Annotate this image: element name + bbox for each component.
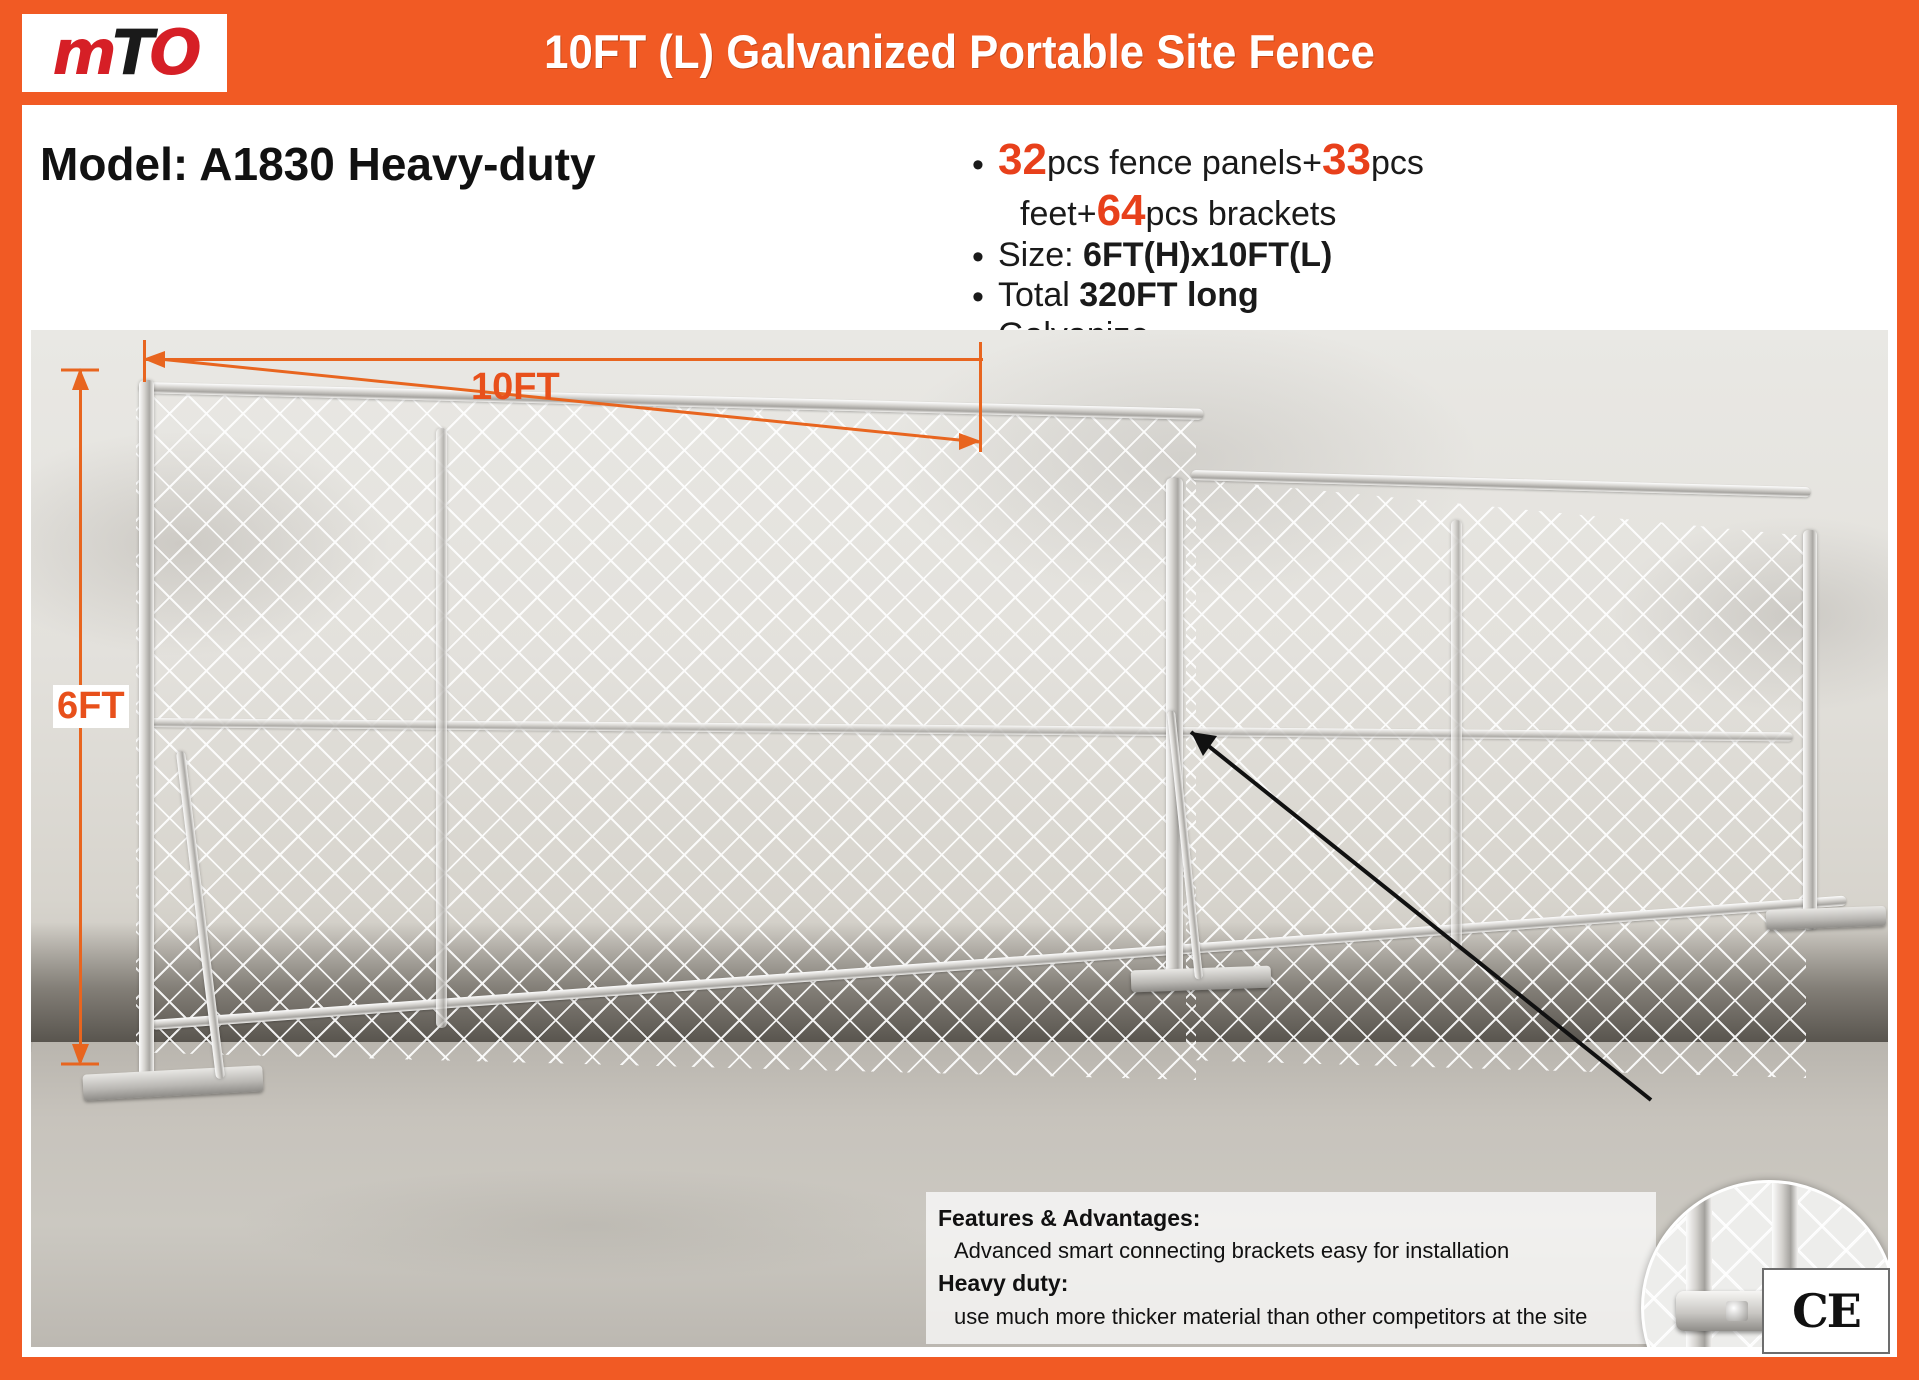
features-body: Advanced smart connecting brackets easy … [938, 1235, 1644, 1267]
heavy-duty-body: use much more thicker material than othe… [938, 1301, 1644, 1333]
total-suffix: long [1178, 276, 1259, 314]
spec-text-panels: pcs fence panels+ [1047, 144, 1322, 182]
spec-text-feet-unit: pcs [1371, 144, 1424, 182]
dim-height-label: 6FT [53, 685, 129, 728]
dim-width-line [143, 358, 983, 361]
spec-item-size: •Size: 6FT(H)x10FT(L) [972, 236, 1882, 274]
header-bar: mTO 10FT (L) Galvanized Portable Site Fe… [0, 0, 1919, 105]
dim-width-tick-right [979, 342, 982, 452]
size-label: Size: [998, 236, 1083, 274]
total-label: Total [998, 276, 1079, 314]
dim-width-tick-left [143, 340, 146, 382]
page-title: 10FT (L) Galvanized Portable Site Fence [67, 24, 1852, 79]
bullet-icon: • [972, 280, 998, 314]
fence-post-right [1803, 530, 1817, 930]
spec-text-brackets: pcs brackets [1146, 195, 1337, 233]
spec-item-quantities: •32pcs fence panels+33pcs [972, 135, 1882, 184]
qty-panels: 32 [998, 135, 1047, 184]
spec-text-feet: feet+ [1020, 195, 1097, 233]
qty-feet: 33 [1322, 135, 1371, 184]
product-photo: 10FT 6FT Features & Advantages: Advanced… [31, 330, 1888, 1347]
fence-mesh-panel-1 [136, 390, 1196, 1080]
product-spec-sheet: mTO 10FT (L) Galvanized Portable Site Fe… [0, 0, 1919, 1380]
bullet-icon: • [972, 240, 998, 274]
spec-list: •32pcs fence panels+33pcs feet+64pcs bra… [972, 135, 1882, 356]
heavy-duty-heading: Heavy duty: [938, 1267, 1644, 1300]
total-value: 320FT [1079, 276, 1177, 314]
spec-item-total-length: •Total 320FT long [972, 276, 1882, 314]
ce-certification-box: CE [1762, 1268, 1890, 1354]
fence-post-mid-right [1451, 520, 1462, 950]
model-label: Model: A1830 Heavy-duty [40, 137, 596, 191]
fence-post-left [139, 380, 154, 1085]
dim-width-label: 10FT [471, 366, 560, 409]
size-value: 6FT(H)x10FT(L) [1083, 236, 1332, 274]
spec-item-quantities-cont: feet+64pcs brackets [972, 186, 1882, 235]
bullet-icon: • [972, 148, 998, 182]
features-box: Features & Advantages: Advanced smart co… [926, 1192, 1656, 1344]
ce-mark-text: CE [1792, 1288, 1860, 1334]
features-heading: Features & Advantages: [938, 1202, 1644, 1235]
qty-brackets: 64 [1097, 186, 1146, 235]
fence-base-foot-right [1766, 906, 1887, 930]
bracket-bolt [1726, 1301, 1748, 1321]
content-card: Model: A1830 Heavy-duty •32pcs fence pan… [22, 105, 1897, 1357]
fence-mesh-panel-2 [1186, 478, 1806, 1078]
fence-post-mid-left [436, 428, 447, 1028]
